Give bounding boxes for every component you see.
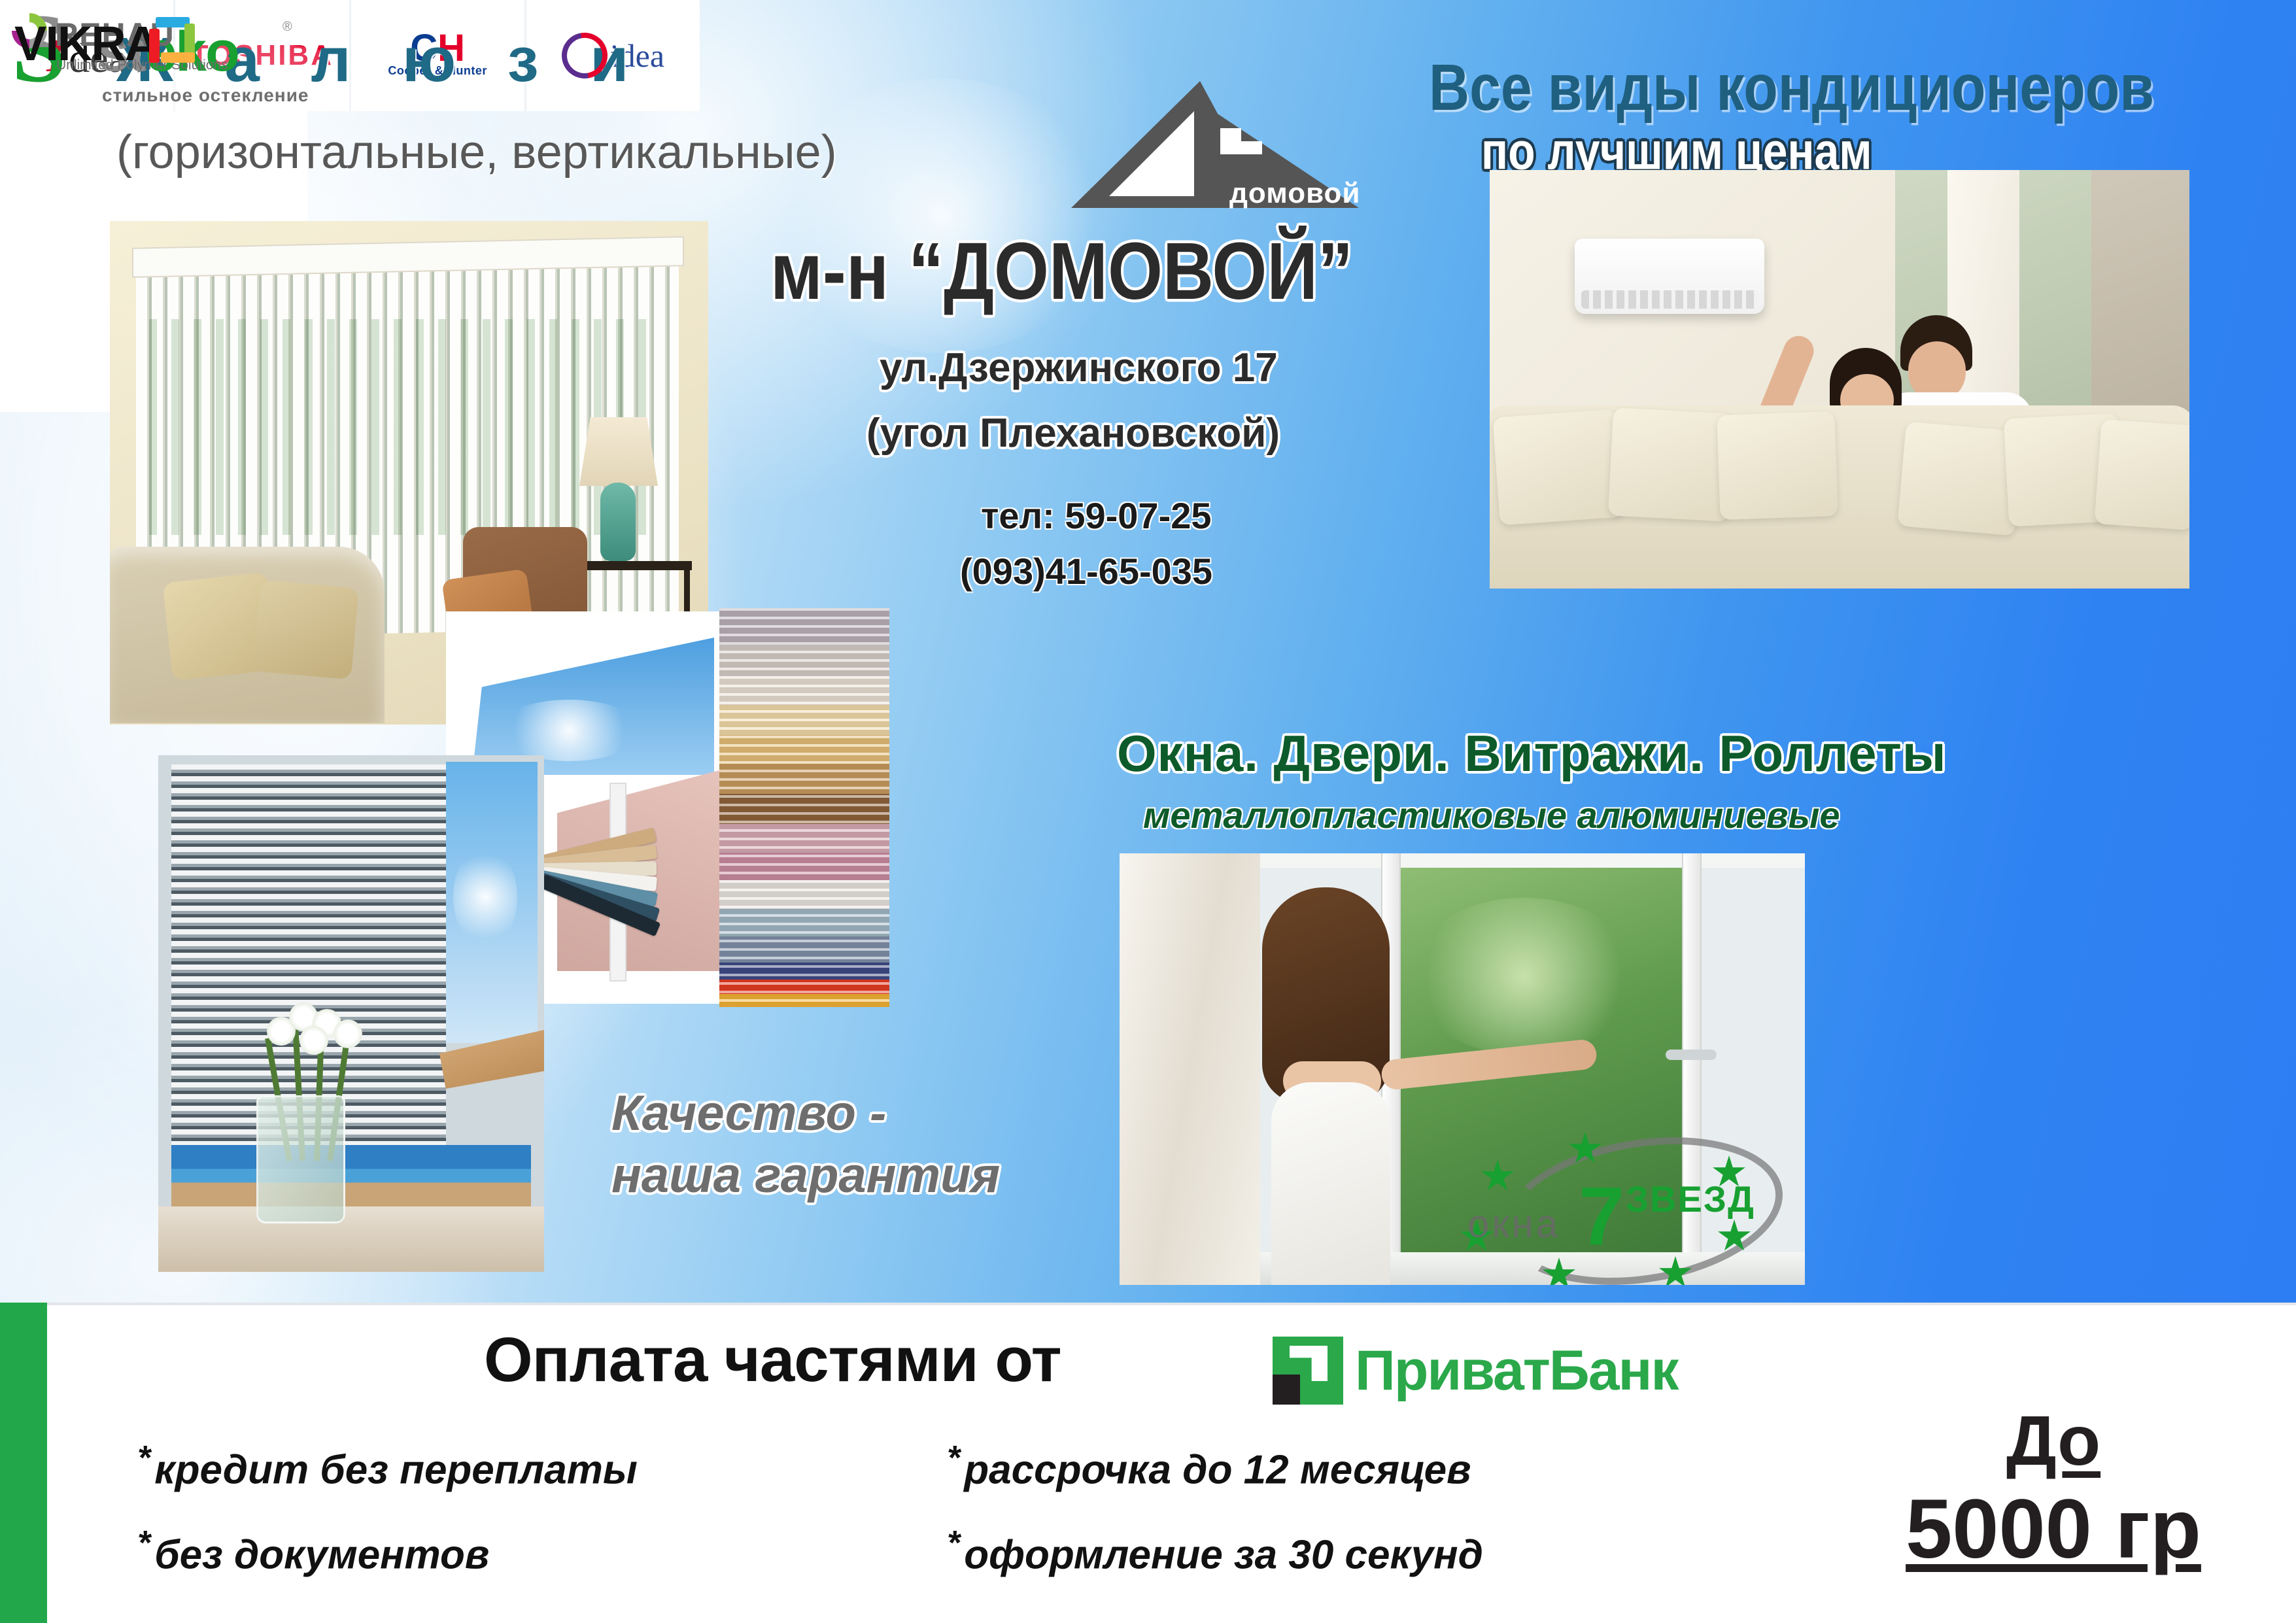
domovoy-roof-logo-icon: домовой (1066, 77, 1360, 218)
slogan-line-1: Качество - (611, 1085, 886, 1141)
bullet-star: * (947, 1524, 960, 1562)
vikra-square-icon (149, 17, 195, 63)
quality-slogan: Качество -наша гарантия (611, 1082, 1000, 1206)
bullet-star: * (137, 1439, 150, 1477)
bullet-text: кредит без переплаты (154, 1448, 638, 1493)
windows-subtitle: металлопластиковые алюминиевые (1143, 796, 1840, 835)
bullet-star: * (947, 1439, 960, 1477)
bullet-credit-no-overpay: *кредит без переплаты (137, 1439, 638, 1494)
blinds-colour-samples-photo (719, 608, 889, 1007)
windows-title: Окна. Двери. Витражи. Роллеты (1117, 727, 1946, 781)
credit-limit-block: До 5000 гр (1825, 1399, 2282, 1577)
ac-title: Все виды кондиционеров (1429, 54, 2154, 122)
phone-mobile[interactable]: (093)41-65-035 (960, 553, 1212, 591)
window-woman-photo: окна 7 ЗВЕЗД (1120, 853, 1805, 1285)
address-line-1: ул.Дзержинского 17 (880, 347, 1278, 389)
bullet-text: без документов (154, 1533, 489, 1578)
advertisement-poster: Ж а л ю з и (горизонтальные, вертикальны… (0, 0, 2296, 1623)
bullet-text: оформление за 30 секунд (964, 1533, 1483, 1578)
payment-title: Оплата частями от (484, 1327, 1061, 1393)
watermark-zvezd-label: ЗВЕЗД (1626, 1178, 1755, 1220)
watermark-okna-label: окна (1467, 1201, 1560, 1246)
privatbank-logo: ПриватБанк (1273, 1331, 1730, 1410)
ac-unit-icon (1575, 239, 1764, 314)
air-conditioner-room-photo (1490, 170, 2189, 589)
star-icon (1481, 1159, 1515, 1193)
phone-primary[interactable]: тел: 59-07-25 (981, 497, 1212, 536)
okna-7-zvezd-watermark: окна 7 ЗВЕЗД (1430, 1128, 1776, 1278)
bullet-30-seconds: *оформление за 30 секунд (947, 1524, 1483, 1579)
privatbank-mark-icon (1273, 1337, 1343, 1405)
bullet-no-documents: *без документов (137, 1524, 489, 1579)
steko-registered-mark: ® (283, 20, 292, 35)
logo-word: домовой (1229, 177, 1360, 209)
address-line-2: (угол Плехановской) (866, 412, 1280, 454)
watermark-seven-label: 7 (1579, 1175, 1624, 1257)
credit-limit-amount: 5000 гр (1825, 1481, 2282, 1577)
vikra-word: VIKRA (14, 16, 158, 71)
slogan-line-2: наша гарантия (611, 1148, 1000, 1203)
bullet-star: * (137, 1524, 150, 1562)
blinds-subtitle: (горизонтальные, вертикальные) (116, 128, 837, 178)
bullet-text: рассрочка до 12 месяцев (964, 1448, 1471, 1493)
bullet-installment-12-months: *рассрочка до 12 месяцев (947, 1439, 1471, 1494)
steko-subtitle: стильное остекление (102, 85, 309, 106)
store-name: м-н “ДОМОВОЙ” (770, 229, 1353, 313)
horizontal-blinds-flowers-photo (158, 755, 544, 1272)
credit-limit-prefix: До (1825, 1399, 2282, 1481)
privatbank-label: ПриватБанк (1355, 1339, 1678, 1403)
banner-green-accent-bar (0, 1303, 47, 1623)
